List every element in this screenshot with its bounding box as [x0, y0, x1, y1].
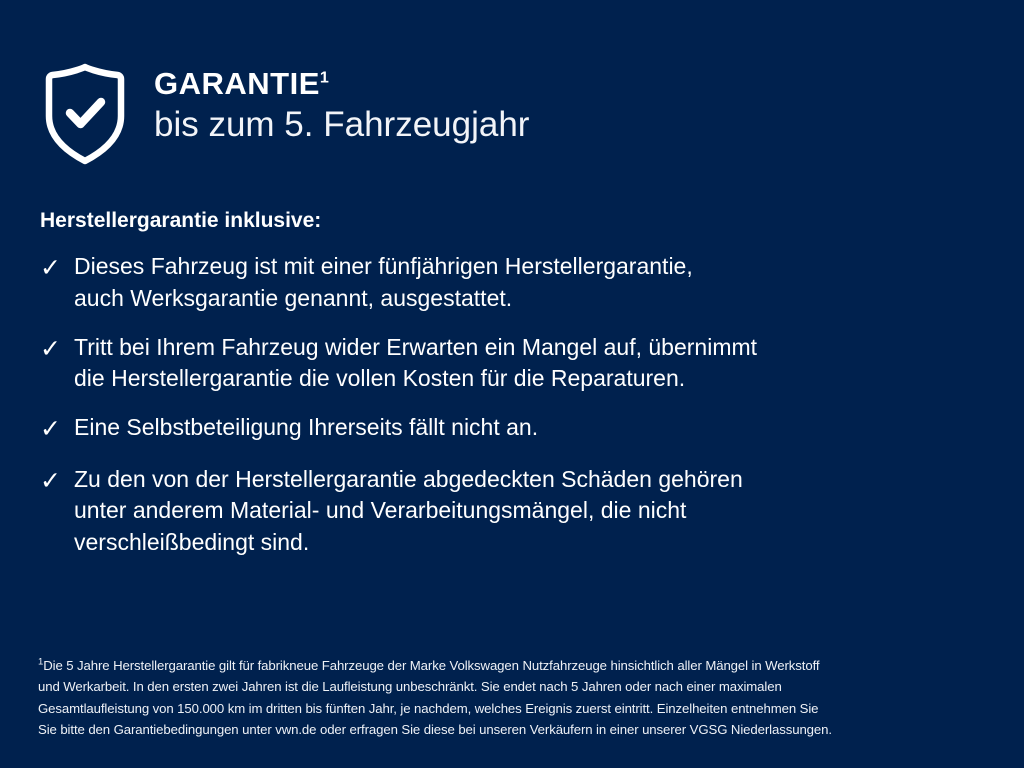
warranty-slide: GARANTIE1 bis zum 5. Fahrzeugjahr Herste…	[0, 0, 1024, 768]
footnote-text: Die 5 Jahre Herstellergarantie gilt für …	[38, 658, 832, 737]
shield-check-icon	[42, 62, 128, 166]
list-item-text: Zu den von der Herstellergarantie abgede…	[74, 464, 743, 559]
list-item-text: Dieses Fahrzeug ist mit einer fünfjährig…	[74, 251, 693, 314]
title-footnote-marker: 1	[320, 69, 329, 87]
list-item: ✓ Zu den von der Herstellergarantie abge…	[40, 464, 980, 559]
header-text-group: GARANTIE1 bis zum 5. Fahrzeugjahr	[154, 58, 529, 144]
page-title-label: GARANTIE	[154, 66, 320, 101]
footnote: 1Die 5 Jahre Herstellergarantie gilt für…	[38, 655, 994, 741]
page-title: GARANTIE1	[154, 68, 529, 101]
page-subtitle: bis zum 5. Fahrzeugjahr	[154, 105, 529, 144]
list-item-text: Eine Selbstbeteiligung Ihrerseits fällt …	[74, 412, 538, 444]
benefits-list: ✓ Dieses Fahrzeug ist mit einer fünfjähr…	[40, 251, 980, 559]
content-block: Herstellergarantie inklusive: ✓ Dieses F…	[40, 208, 980, 559]
check-icon: ✓	[40, 412, 74, 447]
list-item: ✓ Eine Selbstbeteiligung Ihrerseits fäll…	[40, 412, 980, 447]
check-icon: ✓	[40, 332, 74, 367]
header: GARANTIE1 bis zum 5. Fahrzeugjahr	[42, 58, 529, 166]
check-icon: ✓	[40, 251, 74, 286]
list-item-text: Tritt bei Ihrem Fahrzeug wider Erwarten …	[74, 332, 757, 395]
lead-heading: Herstellergarantie inklusive:	[40, 208, 980, 233]
check-icon: ✓	[40, 464, 74, 499]
list-item: ✓ Dieses Fahrzeug ist mit einer fünfjähr…	[40, 251, 980, 314]
list-item: ✓ Tritt bei Ihrem Fahrzeug wider Erwarte…	[40, 332, 980, 395]
